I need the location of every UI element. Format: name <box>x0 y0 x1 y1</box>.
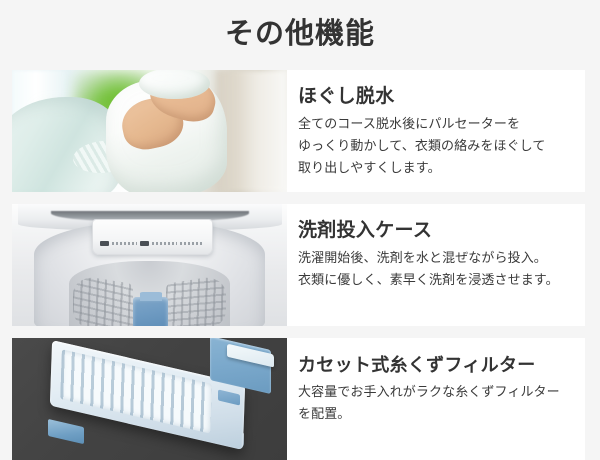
tub-perforations-left <box>73 275 133 326</box>
feature-card: 洗剤投入ケース 洗濯開始後、洗剤を水と混ぜながら投入。 衣類に優しく、素早く洗剤… <box>12 204 585 326</box>
feature-description: 全てのコース脱水後にパルセーターを ゆっくり動かして、衣類の絡みをほぐして 取り… <box>298 113 571 179</box>
label-text-line <box>152 242 177 245</box>
laundry-photo <box>12 70 287 192</box>
filter-mesh-ribs <box>59 349 211 433</box>
feature-image-hands-holding-white-laundry <box>12 70 287 192</box>
label-text-line <box>180 242 205 245</box>
feature-image-cassette-lint-filter <box>12 338 287 460</box>
feature-text-block: ほぐし脱水 全てのコース脱水後にパルセーターを ゆっくり動かして、衣類の絡みをほ… <box>287 70 585 192</box>
feature-image-washer-detergent-dispenser-case <box>12 204 287 326</box>
feature-card: カセット式糸くずフィルター 大容量でお手入れがラクな糸くずフィルター を配置。 <box>12 338 585 460</box>
feature-heading: ほぐし脱水 <box>298 84 571 110</box>
feature-description-line: を配置。 <box>298 403 571 425</box>
dispenser-labels <box>100 241 205 247</box>
feature-card-list: ほぐし脱水 全てのコース脱水後にパルセーターを ゆっくり動かして、衣類の絡みをほ… <box>12 70 585 460</box>
label-chip <box>100 241 109 246</box>
feature-section-page: その他機能 ほぐし脱水 <box>0 0 600 460</box>
feature-card: ほぐし脱水 全てのコース脱水後にパルセーターを ゆっくり動かして、衣類の絡みをほ… <box>12 70 585 192</box>
feature-description: 大容量でお手入れがラクな糸くずフィルター を配置。 <box>298 381 571 425</box>
pulsator-blue-part <box>133 297 168 326</box>
feature-text-block: カセット式糸くずフィルター 大容量でお手入れがラクな糸くずフィルター を配置。 <box>287 338 585 460</box>
detergent-drawer <box>92 219 213 256</box>
feature-description-line: ゆっくり動かして、衣類の絡みをほぐして <box>298 135 571 157</box>
lint-filter-photo <box>12 338 287 460</box>
feature-text-block: 洗剤投入ケース 洗濯開始後、洗剤を水と混ぜながら投入。 衣類に優しく、素早く洗剤… <box>287 204 585 326</box>
filter-clip-bottom-left <box>48 419 84 444</box>
tub-perforations-right <box>166 275 226 326</box>
feature-description-line: 大容量でお手入れがラクな糸くずフィルター <box>298 381 571 403</box>
label-text-line <box>112 242 137 245</box>
label-chip <box>140 241 149 246</box>
feature-description-line: 洗濯開始後、洗剤を水と混ぜながら投入。 <box>298 247 571 269</box>
washer-photo <box>12 204 287 326</box>
feature-description-line: 全てのコース脱水後にパルセーターを <box>298 113 571 135</box>
page-title: その他機能 <box>0 0 600 56</box>
feature-description: 洗濯開始後、洗剤を水と混ぜながら投入。 衣類に優しく、素早く洗剤を浸透させます。 <box>298 247 571 291</box>
feature-heading: 洗剤投入ケース <box>298 218 571 244</box>
feature-heading: カセット式糸くずフィルター <box>298 352 571 378</box>
feature-description-line: 衣類に優しく、素早く洗剤を浸透させます。 <box>298 269 571 291</box>
feature-description-line: 取り出しやすくします。 <box>298 157 571 179</box>
